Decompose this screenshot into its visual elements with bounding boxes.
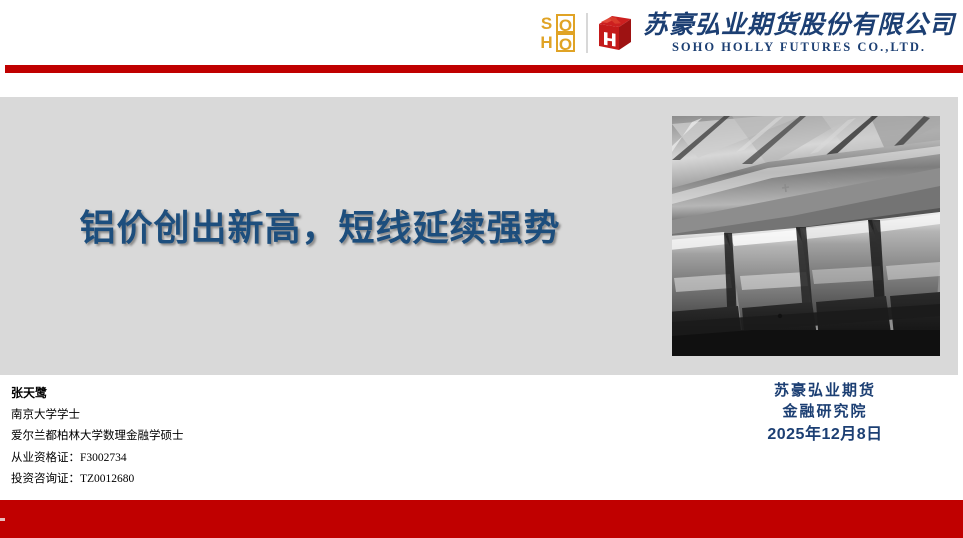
company-name-cn: 苏豪弘业期货股份有限公司 [643,12,955,40]
soho-wordmark-row-1: S O [537,14,575,33]
firm-name: 苏豪弘业期货 [700,381,950,402]
soho-letter-h: H [537,33,556,52]
author-credential-2: 爱尔兰都柏林大学数理金融学硕士 [11,426,431,448]
soho-wordmark-row-2: H O [537,33,575,52]
firm-department: 金融研究院 [700,402,950,423]
slide-header: S O H O [0,0,963,64]
logo-divider [586,13,588,53]
company-logo: S O H O [533,8,955,58]
author-credential-3: 从业资格证：F3002734 [11,448,431,470]
page-title: 铝价创出新高，短线延续强势 [0,205,640,251]
header-red-rule [5,65,963,73]
author-credential-1: 南京大学学士 [11,405,431,427]
company-name-en: SOHO HOLLY FUTURES CO.,LTD. [643,40,955,55]
author-credential-4: 投资咨询证：TZ0012680 [11,469,431,491]
soho-wordmark-icon: S O H O [533,12,579,54]
soho-letter-s: S [537,14,556,33]
author-info: 张天鹭 南京大学学士 爱尔兰都柏林大学数理金融学硕士 从业资格证：F300273… [11,383,431,491]
firm-info: 苏豪弘业期货 金融研究院 2025年12月8日 [700,381,950,446]
red-cube-icon [595,13,635,53]
aluminium-ingots-photo [672,116,940,356]
author-name: 张天鹭 [11,383,431,405]
soho-letter-o-top: O [556,14,575,33]
company-name-block: 苏豪弘业期货股份有限公司 SOHO HOLLY FUTURES CO.,LTD. [643,10,955,56]
footer-red-band [0,500,963,538]
footer-left-notch [0,518,5,521]
publish-date: 2025年12月8日 [700,423,950,446]
soho-letter-o-bottom: O [556,33,575,52]
presentation-slide: S O H O [0,0,963,538]
